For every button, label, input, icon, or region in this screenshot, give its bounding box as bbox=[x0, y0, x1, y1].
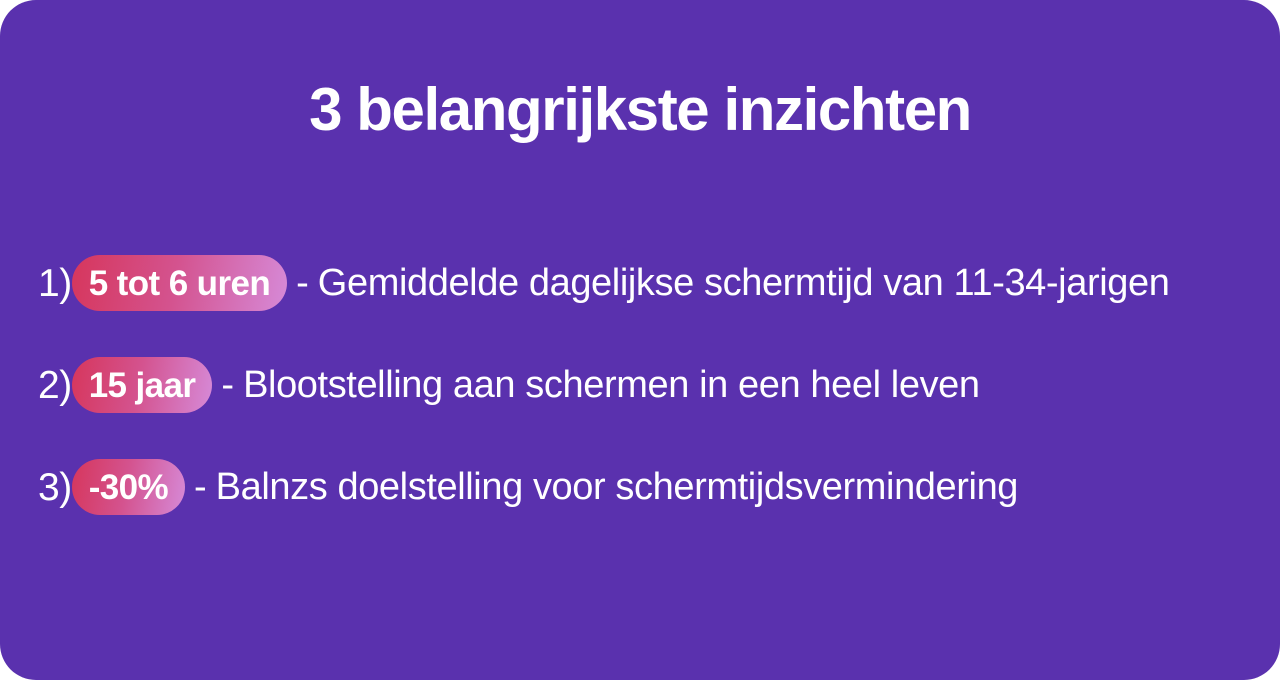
highlight-pill: -30% bbox=[72, 459, 185, 515]
list-item: 1) 5 tot 6 uren - Gemiddelde dagelijkse … bbox=[38, 252, 1258, 314]
separator-dash: - bbox=[185, 468, 216, 506]
list-item-description: Balnzs doelstelling voor schermtijdsverm… bbox=[216, 468, 1018, 506]
list-item: 2) 15 jaar - Blootstelling aan schermen … bbox=[38, 354, 1258, 416]
separator-dash: - bbox=[212, 366, 243, 404]
separator-dash: - bbox=[287, 264, 318, 302]
list-item-index: 3) bbox=[38, 468, 72, 507]
list-item-index: 1) bbox=[38, 264, 72, 303]
page-title: 3 belangrijkste inzichten bbox=[0, 80, 1280, 140]
list-item: 3) -30% - Balnzs doelstelling voor scher… bbox=[38, 456, 1258, 518]
highlight-pill: 5 tot 6 uren bbox=[72, 255, 287, 311]
list-item-description: Blootstelling aan schermen in een heel l… bbox=[243, 366, 980, 404]
list-item-index: 2) bbox=[38, 366, 72, 405]
insights-slide-card: 3 belangrijkste inzichten 1) 5 tot 6 ure… bbox=[0, 0, 1280, 680]
list-item-description: Gemiddelde dagelijkse schermtijd van 11-… bbox=[318, 264, 1170, 302]
insights-list: 1) 5 tot 6 uren - Gemiddelde dagelijkse … bbox=[38, 252, 1258, 558]
highlight-pill: 15 jaar bbox=[72, 357, 213, 413]
